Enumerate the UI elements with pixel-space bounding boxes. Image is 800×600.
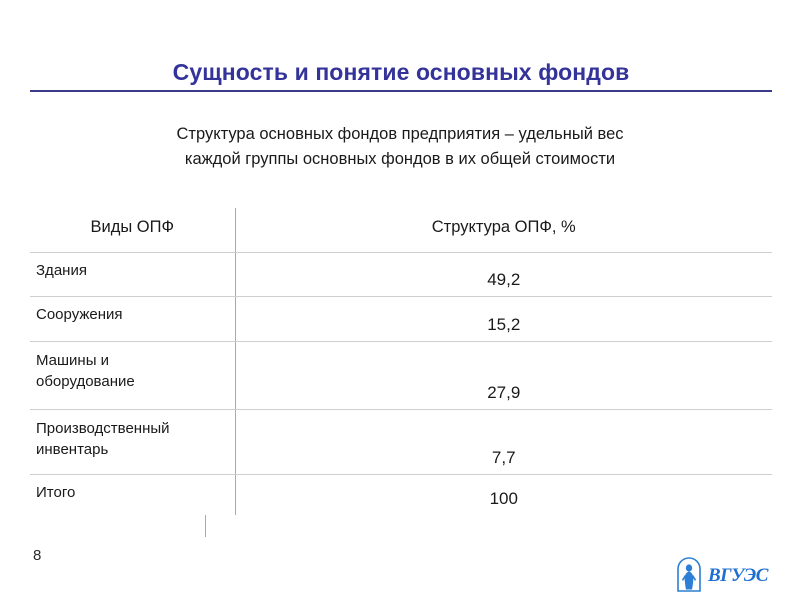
row-label-line-1: Производственный — [36, 420, 170, 437]
column-header-structure: Структура ОПФ, % — [235, 208, 772, 252]
vgues-emblem-icon — [676, 557, 702, 593]
page-number: 8 — [33, 547, 41, 564]
row-label: Здания — [30, 252, 235, 296]
row-value: 7,7 — [235, 409, 772, 474]
row-value: 27,9 — [235, 341, 772, 409]
column-header-types: Виды ОПФ — [30, 208, 235, 252]
table-row: Сооружения 15,2 — [30, 296, 772, 341]
table: Виды ОПФ Структура ОПФ, % Здания 49,2 Со… — [30, 208, 772, 515]
column-divider-tail — [205, 515, 206, 537]
table-row: Машины иоборудование 27,9 — [30, 341, 772, 409]
vgues-logo: ВГУЭС — [676, 556, 780, 594]
opf-structure-table: Виды ОПФ Структура ОПФ, % Здания 49,2 Со… — [30, 208, 772, 515]
row-label: Итого — [30, 474, 235, 515]
title-divider — [30, 90, 772, 92]
row-value: 49,2 — [235, 252, 772, 296]
row-label: Производственныйинвентарь — [30, 409, 235, 474]
table-header-row: Виды ОПФ Структура ОПФ, % — [30, 208, 772, 252]
row-value: 100 — [235, 474, 772, 515]
table-row-total: Итого 100 — [30, 474, 772, 515]
row-label-line-1: Машины и — [36, 352, 109, 369]
page-title: Сущность и понятие основных фондов — [30, 58, 772, 86]
table-row: Здания 49,2 — [30, 252, 772, 296]
subtitle-line-2: каждой группы основных фондов в их общей… — [70, 147, 730, 172]
row-value: 15,2 — [235, 296, 772, 341]
subtitle-line-1: Структура основных фондов предприятия – … — [70, 122, 730, 147]
subtitle-text: Структура основных фондов предприятия – … — [70, 122, 730, 172]
row-label: Машины иоборудование — [30, 341, 235, 409]
row-label-line-2: инвентарь — [36, 441, 108, 458]
table-row: Производственныйинвентарь 7,7 — [30, 409, 772, 474]
title-block: Сущность и понятие основных фондов — [30, 58, 772, 92]
slide-canvas: Сущность и понятие основных фондов Струк… — [0, 0, 800, 600]
row-label-line-2: оборудование — [36, 373, 135, 390]
row-label: Сооружения — [30, 296, 235, 341]
vgues-wordmark: ВГУЭС — [708, 566, 768, 585]
